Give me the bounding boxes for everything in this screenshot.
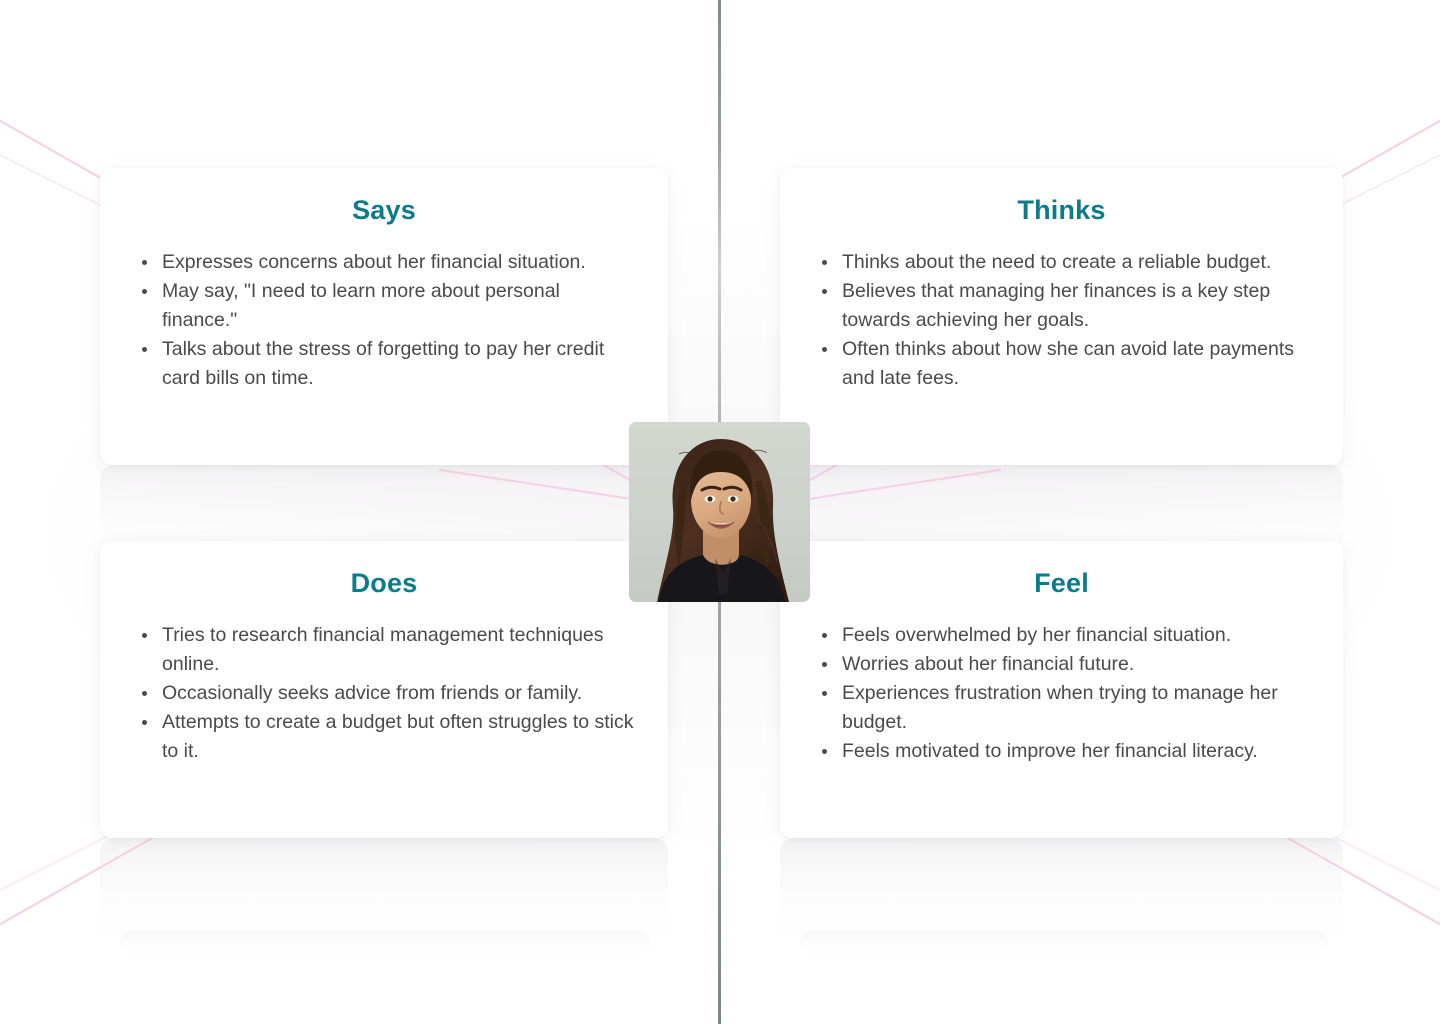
quadrant-card-does: Does Tries to research financial managem… (100, 541, 668, 838)
list-item: Expresses concerns about her financial s… (134, 248, 634, 277)
list-item: Feels motivated to improve her financial… (814, 737, 1309, 766)
quadrant-list-says: Expresses concerns about her financial s… (134, 248, 634, 393)
quadrant-card-thinks: Thinks Thinks about the need to create a… (780, 168, 1343, 465)
list-item: Experiences frustration when trying to m… (814, 679, 1309, 737)
quadrant-list-feel: Feels overwhelmed by her financial situa… (814, 621, 1309, 766)
quadrant-title-thinks: Thinks (814, 194, 1309, 226)
persona-portrait-illustration (629, 422, 810, 602)
quadrant-title-feel: Feel (814, 567, 1309, 599)
list-item: Tries to research financial management t… (134, 621, 634, 679)
ghost-panel-does (100, 838, 668, 948)
list-item: Believes that managing her finances is a… (814, 277, 1309, 335)
list-item: Occasionally seeks advice from friends o… (134, 679, 634, 708)
list-item: Attempts to create a budget but often st… (134, 708, 634, 766)
ghost-strip-right (800, 930, 1328, 956)
ghost-panel-feel (780, 838, 1343, 948)
list-item: Feels overwhelmed by her financial situa… (814, 621, 1309, 650)
quadrant-list-thinks: Thinks about the need to create a reliab… (814, 248, 1309, 393)
quadrant-title-does: Does (134, 567, 634, 599)
list-item: Worries about her financial future. (814, 650, 1309, 679)
list-item: Thinks about the need to create a reliab… (814, 248, 1309, 277)
quadrant-list-does: Tries to research financial management t… (134, 621, 634, 766)
list-item: Talks about the stress of forgetting to … (134, 335, 634, 393)
list-item: May say, "I need to learn more about per… (134, 277, 634, 335)
persona-photo (629, 422, 810, 602)
quadrant-card-says: Says Expresses concerns about her financ… (100, 168, 668, 465)
quadrant-title-says: Says (134, 194, 634, 226)
quadrant-card-feel: Feel Feels overwhelmed by her financial … (780, 541, 1343, 838)
list-item: Often thinks about how she can avoid lat… (814, 335, 1309, 393)
ghost-strip-left (120, 930, 650, 956)
